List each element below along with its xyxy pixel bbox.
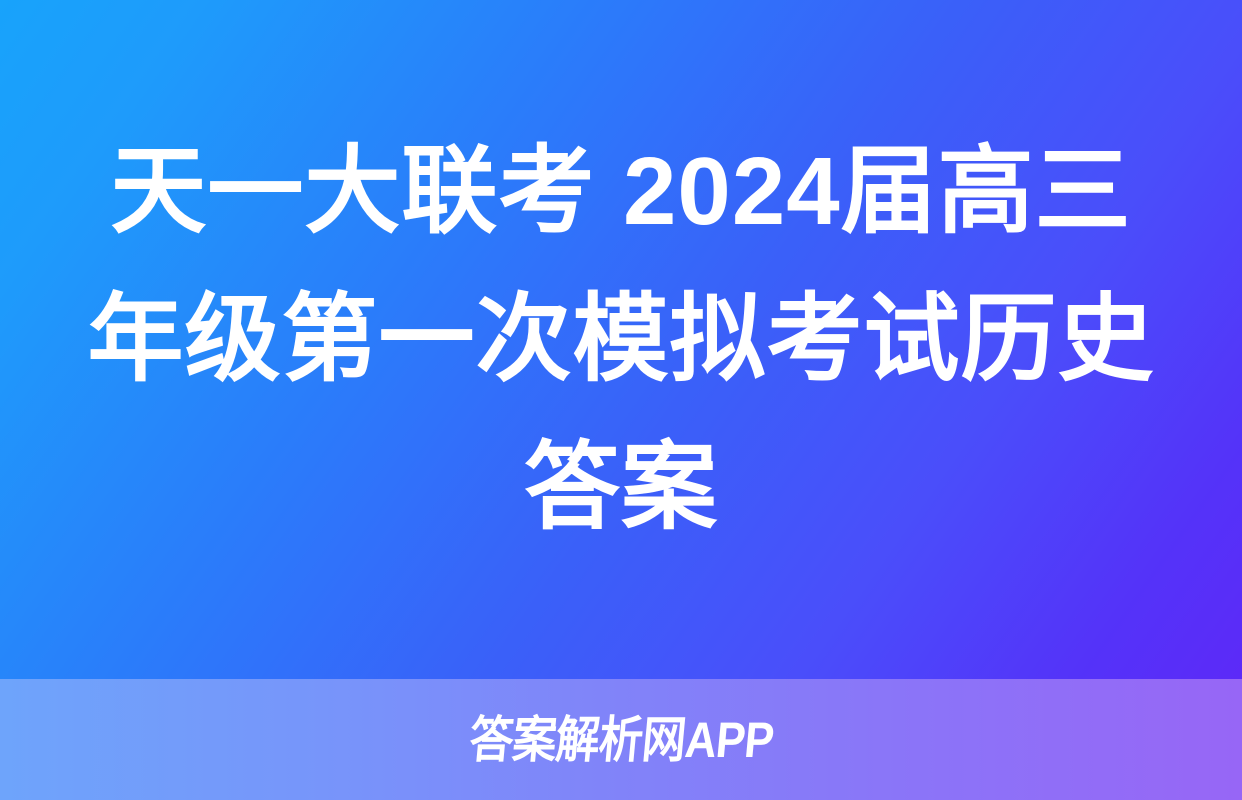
watermark-label: 答案解析网APP (467, 715, 775, 765)
poster-image: 天一大联考 2024届高三 年级第一次模拟考试历史 答案 答案解析网APP (0, 0, 1242, 800)
hero-content: 天一大联考 2024届高三 年级第一次模拟考试历史 答案 (0, 0, 1242, 679)
watermark-band: 答案解析网APP (0, 679, 1242, 800)
title-line-1: 天一大联考 2024届高三 (60, 118, 1182, 266)
title-line-3: 答案 (60, 414, 1182, 562)
page-title: 天一大联考 2024届高三 年级第一次模拟考试历史 答案 (60, 118, 1182, 562)
title-line-2: 年级第一次模拟考试历史 (60, 266, 1182, 414)
